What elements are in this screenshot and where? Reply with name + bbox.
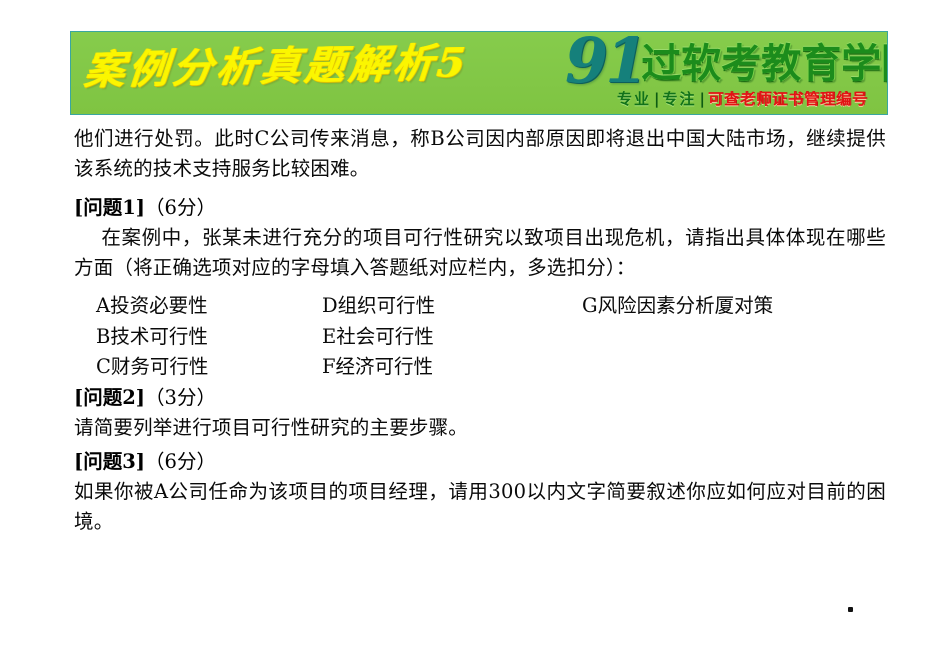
tagline-separator-1: | bbox=[651, 90, 662, 108]
options-column-3: G风险因素分析厦对策 bbox=[582, 291, 773, 322]
logo-wordmark: 过软考教育学院 bbox=[641, 44, 888, 84]
option-c: C财务可行性 bbox=[96, 352, 208, 383]
option-g: G风险因素分析厦对策 bbox=[582, 291, 773, 322]
question2-score: （3分） bbox=[145, 386, 216, 409]
options-column-1: A投资必要性 B技术可行性 C财务可行性 bbox=[96, 291, 208, 383]
question1-text: 在案例中，张某未进行充分的项目可行性研究以致项目出现危机，请指出具体体现在哪些方… bbox=[74, 223, 886, 283]
logo-main-row: 91过软考教育学院 bbox=[565, 31, 888, 92]
option-b: B技术可行性 bbox=[96, 322, 208, 353]
question2-text: 请简要列举进行项目可行性研究的主要步骤。 bbox=[74, 413, 886, 443]
question1-tag: [问题1] bbox=[74, 196, 145, 219]
logo-number: 91 bbox=[565, 31, 645, 92]
footer-dot-marker bbox=[848, 607, 853, 612]
question1-score: （6分） bbox=[145, 196, 216, 219]
question2-tag: [问题2] bbox=[74, 386, 145, 409]
question2-heading: [问题2]（3分） bbox=[74, 383, 886, 413]
question1-heading: [问题1]（6分） bbox=[74, 193, 886, 223]
tagline-professional: 专业 bbox=[617, 90, 651, 108]
slide-body: 他们进行处罚。此时C公司传来消息，称B公司因内部原因即将退出中国大陆市场，继续提… bbox=[74, 124, 886, 537]
tagline-focused: 专注 bbox=[663, 90, 697, 108]
option-d: D组织可行性 bbox=[322, 291, 435, 322]
tagline-verification: 可查老师证书管理编号 bbox=[708, 90, 868, 108]
page-title: 案例分析真题解析5 bbox=[83, 31, 472, 96]
option-f: F经济可行性 bbox=[322, 352, 435, 383]
intro-paragraph: 他们进行处罚。此时C公司传来消息，称B公司因内部原因即将退出中国大陆市场，继续提… bbox=[74, 124, 886, 184]
tagline-separator-2: | bbox=[697, 90, 708, 108]
spacer bbox=[74, 184, 886, 193]
option-a: A投资必要性 bbox=[96, 291, 208, 322]
question3-heading: [问题3]（6分） bbox=[74, 447, 886, 477]
logo-tagline: 专业|专注|可查老师证书管理编号 bbox=[617, 92, 868, 107]
question3-tag: [问题3] bbox=[74, 450, 145, 473]
question3-text: 如果你被A公司任命为该项目的项目经理，请用300以内文字简要叙述你应如何应对目前… bbox=[74, 477, 886, 537]
options-column-2: D组织可行性 E社会可行性 F经济可行性 bbox=[322, 291, 435, 383]
header-banner: 案例分析真题解析5 91过软考教育学院 专业|专注|可查老师证书管理编号 bbox=[70, 31, 888, 115]
slide-canvas: 案例分析真题解析5 91过软考教育学院 专业|专注|可查老师证书管理编号 他们进… bbox=[0, 0, 950, 672]
brand-logo: 91过软考教育学院 专业|专注|可查老师证书管理编号 bbox=[565, 32, 887, 115]
option-e: E社会可行性 bbox=[322, 322, 435, 353]
question3-score: （6分） bbox=[145, 450, 216, 473]
options-grid: A投资必要性 B技术可行性 C财务可行性 D组织可行性 E社会可行性 F经济可行… bbox=[74, 291, 886, 383]
